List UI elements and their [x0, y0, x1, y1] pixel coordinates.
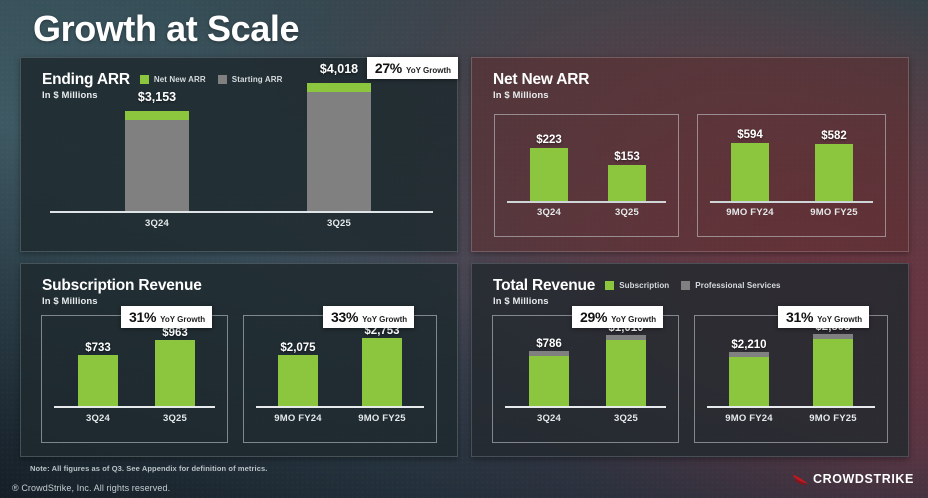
- total-revenue-units: In $ Millions: [493, 296, 549, 307]
- bar-category-label-3Q25: 3Q25: [587, 207, 667, 218]
- bar-9MO-FY24: [278, 355, 318, 406]
- bar-value-label-9MO-FY24: $2,075: [253, 342, 343, 354]
- panel-total-revenue: Total Revenue Subscription Professional …: [471, 263, 909, 457]
- legend-swatch-green-icon: [605, 281, 614, 290]
- bar-segment-subscription: [729, 357, 769, 406]
- badge-percent: 29%: [580, 309, 607, 325]
- crowdstrike-logo: CROWDSTRIKE: [792, 472, 914, 486]
- subscription-revenue-units: In $ Millions: [42, 296, 98, 307]
- bar-9MO-FY24: [729, 352, 769, 406]
- x-axis-line: [54, 406, 215, 408]
- badge-yoy-ending-arr: 27% YoY Growth: [367, 57, 458, 79]
- bar-category-label-9MO-FY24: 9MO FY24: [253, 413, 343, 424]
- bar-3Q25: [155, 340, 195, 406]
- badge-caption: YoY Growth: [817, 315, 862, 324]
- bar-category-label-3Q24: 3Q24: [58, 413, 138, 424]
- bar-value-label-3Q24: $3,153: [105, 90, 209, 104]
- bar-category-label-3Q24: 3Q24: [105, 218, 209, 229]
- bar-9MO-FY25: [813, 334, 853, 406]
- badge-caption: YoY Growth: [362, 315, 407, 324]
- bar-segment-starting-arr: [125, 120, 189, 211]
- footnote: Note: All figures as of Q3. See Appendix…: [30, 464, 267, 473]
- net-new-arr-header: Net New ARR: [493, 71, 589, 89]
- bar-value-label-9MO-FY24: $2,210: [704, 339, 794, 351]
- badge-yoy-total-revenue-quarterly: 29% YoY Growth: [572, 306, 663, 328]
- bar-value-label-3Q24: $786: [509, 338, 589, 350]
- x-axis-line: [710, 201, 873, 203]
- x-axis-line: [507, 201, 666, 203]
- bar-value-label-9MO-FY25: $582: [794, 130, 874, 142]
- bar-9MO-FY24: [731, 143, 769, 201]
- bar-category-label-3Q25: 3Q25: [287, 218, 391, 229]
- net-new-arr-units: In $ Millions: [493, 90, 549, 101]
- group-net-new-arr-quarterly: $223 3Q24 $153 3Q25: [494, 114, 679, 237]
- subscription-quarter-plot: $733 3Q24 $963 3Q25: [42, 316, 227, 442]
- total-revenue-9mo-plot: $2,210 9MO FY24 $2,895 9MO FY25: [695, 316, 887, 442]
- net-new-arr-9mo-plot: $594 9MO FY24 $582 9MO FY25: [698, 115, 885, 236]
- x-axis-line: [50, 211, 433, 213]
- bar-3Q24: [530, 148, 568, 201]
- bar-segment-subscription: [529, 356, 569, 406]
- ending-arr-plot: $3,153 3Q24 $4,018 3Q25: [21, 58, 457, 251]
- bar-segment-starting-arr: [307, 92, 371, 211]
- x-axis-line: [256, 406, 424, 408]
- bar-category-label-9MO-FY24: 9MO FY24: [704, 413, 794, 424]
- bar-3Q24: [529, 351, 569, 406]
- total-revenue-header: Total Revenue Subscription Professional …: [493, 277, 781, 295]
- bar-9MO-FY25: [815, 144, 853, 201]
- badge-caption: YoY Growth: [406, 66, 451, 75]
- group-subscription-quarterly: $733 3Q24 $963 3Q25: [41, 315, 228, 443]
- bar-value-label-3Q25: $153: [587, 151, 667, 163]
- badge-caption: YoY Growth: [611, 315, 656, 324]
- legend-item-professional-services: Professional Services: [681, 281, 780, 290]
- legend-label-subscription: Subscription: [619, 281, 669, 290]
- x-axis-line: [707, 406, 875, 408]
- subscription-revenue-title: Subscription Revenue: [42, 277, 202, 295]
- badge-percent: 33%: [331, 309, 358, 325]
- x-axis-line: [505, 406, 666, 408]
- total-revenue-legend: Subscription Professional Services: [605, 281, 780, 291]
- group-subscription-9mo: $2,075 9MO FY24 $2,753 9MO FY25: [243, 315, 437, 443]
- bar-9MO-FY25: [362, 338, 402, 406]
- net-new-arr-title: Net New ARR: [493, 71, 589, 89]
- total-revenue-title: Total Revenue: [493, 277, 595, 295]
- badge-yoy-subscription-quarterly: 31% YoY Growth: [121, 306, 212, 328]
- net-new-arr-quarter-plot: $223 3Q24 $153 3Q25: [495, 115, 678, 236]
- bar-category-label-3Q24: 3Q24: [509, 413, 589, 424]
- bar-category-label-3Q24: 3Q24: [509, 207, 589, 218]
- group-total-revenue-9mo: $2,210 9MO FY24 $2,895 9MO FY25: [694, 315, 888, 443]
- group-net-new-arr-9mo: $594 9MO FY24 $582 9MO FY25: [697, 114, 886, 237]
- bar-value-label-3Q25: $963: [135, 327, 215, 339]
- subscription-9mo-plot: $2,075 9MO FY24 $2,753 9MO FY25: [244, 316, 436, 442]
- legend-label-professional-services: Professional Services: [695, 281, 780, 290]
- bar-3Q24: [78, 355, 118, 406]
- bar-3Q25: [606, 335, 646, 406]
- bar-category-label-9MO-FY24: 9MO FY24: [706, 207, 794, 218]
- bar-category-label-3Q25: 3Q25: [586, 413, 666, 424]
- badge-caption: YoY Growth: [160, 315, 205, 324]
- legend-item-subscription: Subscription: [605, 281, 669, 290]
- subscription-revenue-header: Subscription Revenue: [42, 277, 202, 295]
- group-total-revenue-quarterly: $786 3Q24 $1,010 3Q25: [492, 315, 679, 443]
- badge-percent: 27%: [375, 60, 402, 76]
- legend-swatch-gray-icon: [681, 281, 690, 290]
- bar-segment-net-new-arr: [307, 83, 371, 92]
- bar-category-label-9MO-FY25: 9MO FY25: [337, 413, 427, 424]
- bar-segment-subscription: [606, 340, 646, 406]
- bar-segment-subscription: [813, 339, 853, 406]
- bar-category-label-9MO-FY25: 9MO FY25: [790, 207, 878, 218]
- bar-3Q25: [608, 165, 646, 201]
- bar-3Q25: [307, 83, 371, 211]
- bar-category-label-9MO-FY25: 9MO FY25: [788, 413, 878, 424]
- bar-category-label-3Q25: 3Q25: [135, 413, 215, 424]
- badge-percent: 31%: [129, 309, 156, 325]
- badge-percent: 31%: [786, 309, 813, 325]
- crowdstrike-wordmark: CROWDSTRIKE: [813, 472, 914, 486]
- panel-ending-arr: Ending ARR Net New ARR Starting ARR In $…: [20, 57, 458, 252]
- falcon-wing-icon: [792, 473, 812, 486]
- bar-3Q24: [125, 111, 189, 211]
- bar-value-label-3Q24: $223: [509, 134, 589, 146]
- bar-value-label-9MO-FY24: $594: [710, 129, 790, 141]
- copyright-text: ® CrowdStrike, Inc. All rights reserved.: [12, 483, 170, 493]
- bar-value-label-3Q24: $733: [58, 342, 138, 354]
- total-revenue-quarter-plot: $786 3Q24 $1,010 3Q25: [493, 316, 678, 442]
- badge-yoy-subscription-9mo: 33% YoY Growth: [323, 306, 414, 328]
- badge-yoy-total-revenue-9mo: 31% YoY Growth: [778, 306, 869, 328]
- panel-subscription-revenue: Subscription Revenue In $ Millions 31% Y…: [20, 263, 458, 457]
- page-title: Growth at Scale: [33, 8, 299, 50]
- bar-segment-net-new-arr: [125, 111, 189, 120]
- panel-net-new-arr: Net New ARR In $ Millions $223 3Q24 $153…: [471, 57, 909, 252]
